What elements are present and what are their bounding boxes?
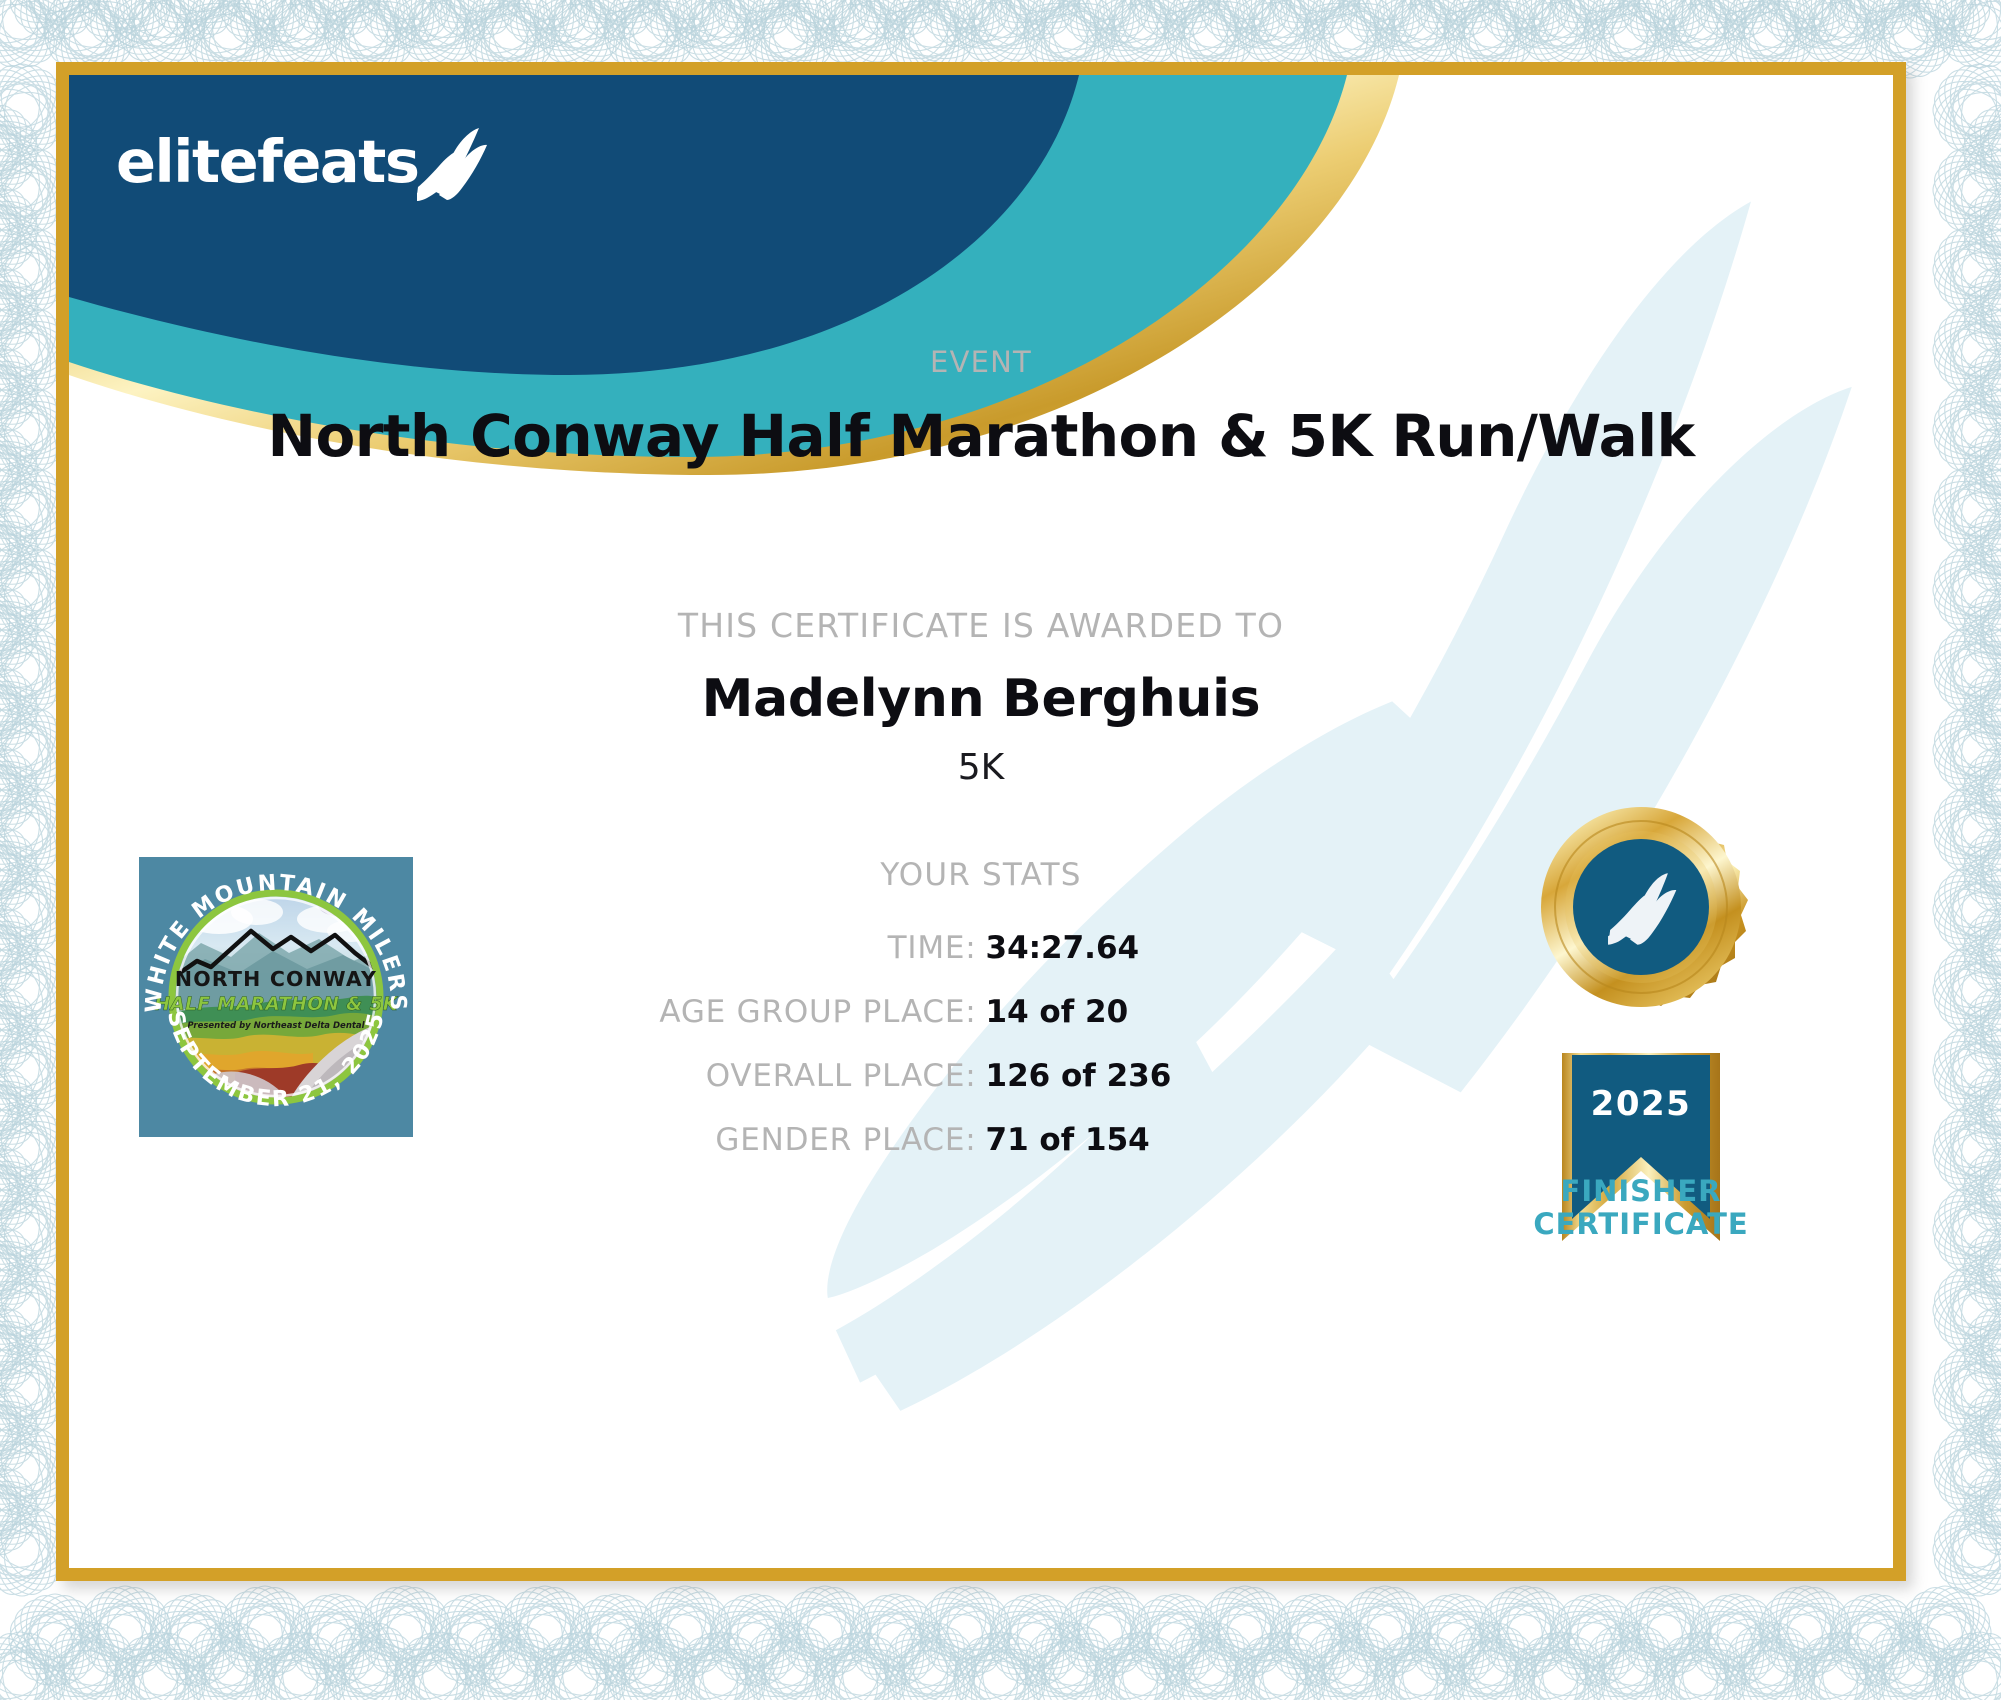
stat-value-time: 34:27.64 bbox=[986, 930, 1441, 966]
event-label: EVENT bbox=[69, 345, 1893, 379]
awarded-to-label: THIS CERTIFICATE IS AWARDED TO bbox=[69, 606, 1893, 645]
event-logo-line3: Presented by Northeast Delta Dental bbox=[187, 1021, 365, 1031]
badge-year: 2025 bbox=[1591, 1084, 1692, 1124]
event-logo-artwork: NORTH CONWAY HALF MARATHON & 5K Presente… bbox=[139, 857, 413, 1137]
stat-value-overall-place: 126 of 236 bbox=[986, 1058, 1441, 1094]
badge-caption: FINISHER CERTIFICATE bbox=[1473, 1175, 1809, 1241]
stat-label-gender-place: GENDER PLACE: bbox=[522, 1122, 986, 1158]
stat-value-gender-place: 71 of 154 bbox=[986, 1122, 1441, 1158]
certificate-frame: elitefeats EVENT North Conway Half Marat… bbox=[56, 62, 1906, 1581]
stat-label-age-group-place: AGE GROUP PLACE: bbox=[522, 994, 986, 1030]
recipient-division: 5K bbox=[69, 747, 1893, 788]
event-title: North Conway Half Marathon & 5K Run/Walk bbox=[69, 402, 1893, 470]
stat-label-overall-place: OVERALL PLACE: bbox=[522, 1058, 986, 1094]
badge-caption-line2: CERTIFICATE bbox=[1473, 1208, 1809, 1241]
event-logo-line2: HALF MARATHON & 5K bbox=[155, 994, 399, 1015]
badge-caption-line1: FINISHER bbox=[1473, 1175, 1809, 1208]
certificate-page: elitefeats EVENT North Conway Half Marat… bbox=[0, 0, 2001, 1700]
event-logo-line1: NORTH CONWAY bbox=[175, 967, 377, 991]
recipient-name: Madelynn Berghuis bbox=[69, 669, 1893, 729]
stat-label-time: TIME: bbox=[522, 930, 986, 966]
stat-value-age-group-place: 14 of 20 bbox=[986, 994, 1441, 1030]
